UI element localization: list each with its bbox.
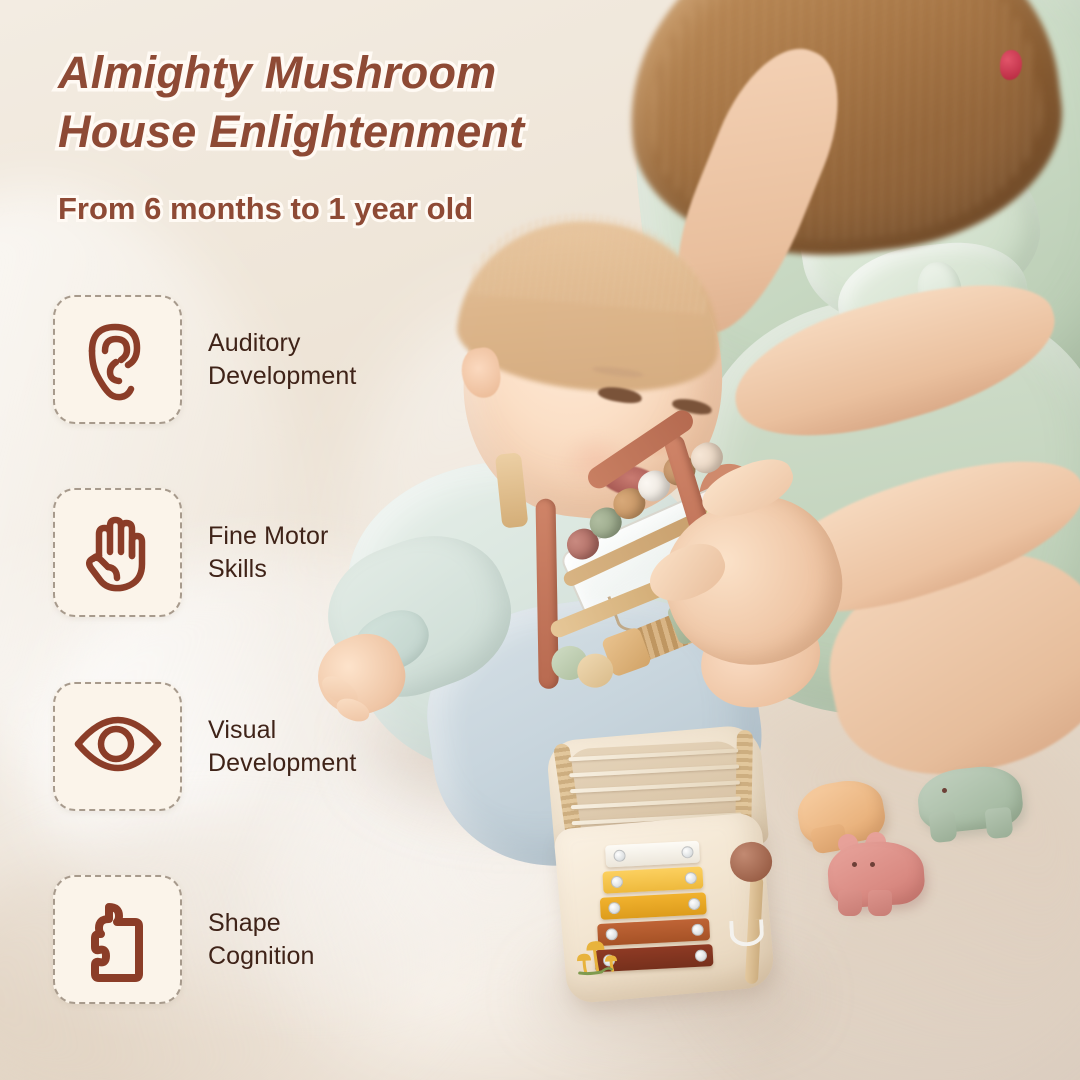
- hand-icon: [77, 512, 159, 594]
- feature-label: Visual Development: [208, 714, 356, 779]
- eye-icon: [72, 714, 164, 780]
- shape-block-sage-leg: [929, 811, 958, 844]
- mushroom-illustration: [573, 928, 631, 977]
- feature-item-auditory[interactable]: Auditory Development: [53, 295, 356, 424]
- feature-icon-card: [53, 295, 182, 424]
- puzzle-icon: [79, 897, 157, 983]
- product-feature-graphic: Almighty Mushroom House Enlightenment Fr…: [0, 0, 1080, 1080]
- feature-item-visual[interactable]: Visual Development: [53, 682, 356, 811]
- ear-icon: [78, 317, 158, 403]
- shape-block-sage-leg: [985, 807, 1014, 840]
- feature-label: Fine Motor Skills: [208, 520, 328, 585]
- shape-block-eye: [870, 862, 875, 867]
- feature-icon-card: [53, 682, 182, 811]
- shape-block-pink-leg: [838, 890, 862, 916]
- feature-item-shape[interactable]: Shape Cognition: [53, 875, 315, 1004]
- feature-label: Shape Cognition: [208, 907, 315, 972]
- shape-block-eye: [942, 788, 947, 793]
- feature-label: Auditory Development: [208, 327, 356, 392]
- page-subtitle: From 6 months to 1 year old: [58, 190, 678, 227]
- shape-block-eye: [852, 862, 857, 867]
- feature-icon-card: [53, 875, 182, 1004]
- feature-icon-card: [53, 488, 182, 617]
- shape-block-pink-leg: [868, 890, 892, 916]
- page-title: Almighty Mushroom House Enlightenment: [58, 44, 678, 161]
- wooden-xylophone-toy: [541, 722, 805, 1003]
- feature-item-fine-motor[interactable]: Fine Motor Skills: [53, 488, 328, 617]
